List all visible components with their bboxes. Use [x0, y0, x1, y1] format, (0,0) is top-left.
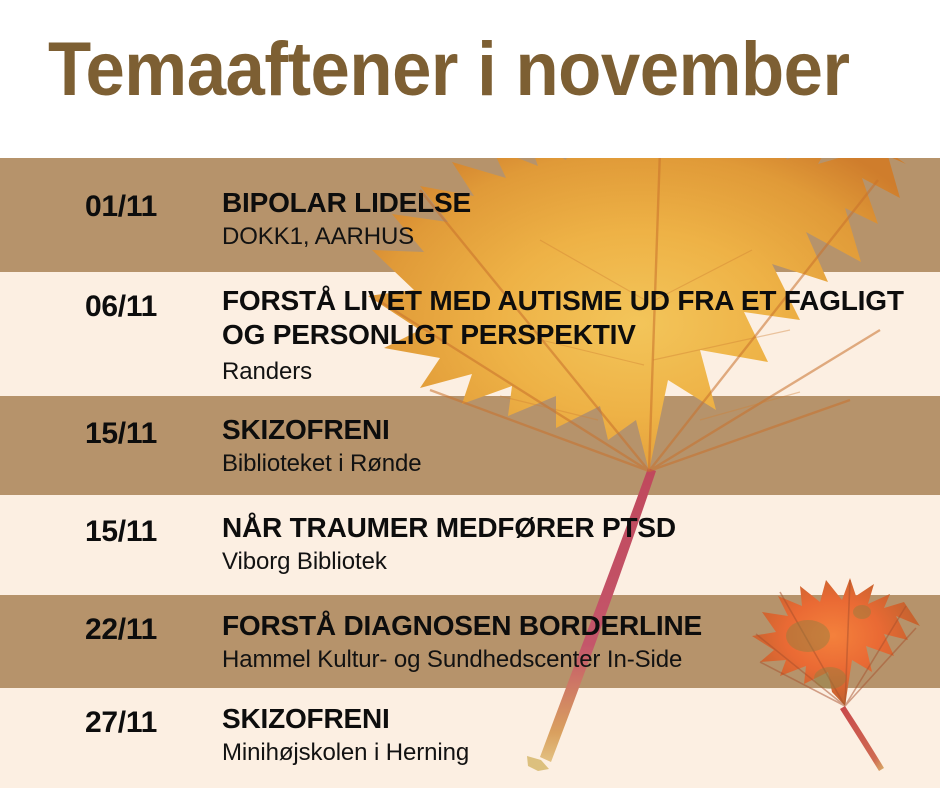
event-venue: DOKK1, AARHUS: [222, 221, 922, 252]
event-date: 15/11: [46, 417, 196, 451]
event-date: 15/11: [46, 515, 196, 549]
event-title: FORSTÅ LIVET MED AUTISME UD FRA ET FAGLI…: [222, 284, 922, 352]
event-date: 27/11: [46, 706, 196, 740]
list-item[interactable]: 27/11 SKIZOFRENI Minihøjskolen i Herning: [0, 688, 940, 788]
event-date: 06/11: [46, 290, 196, 324]
event-title: FORSTÅ DIAGNOSEN BORDERLINE: [222, 609, 922, 643]
list-item[interactable]: 15/11 SKIZOFRENI Biblioteket i Rønde: [0, 396, 940, 495]
event-body: FORSTÅ LIVET MED AUTISME UD FRA ET FAGLI…: [222, 284, 922, 387]
page-title: Temaaftener i november: [48, 29, 850, 111]
list-item[interactable]: 15/11 NÅR TRAUMER MEDFØRER PTSD Viborg B…: [0, 495, 940, 595]
event-title: SKIZOFRENI: [222, 702, 922, 736]
event-body: SKIZOFRENI Minihøjskolen i Herning: [222, 702, 922, 768]
event-body: SKIZOFRENI Biblioteket i Rønde: [222, 413, 922, 479]
event-body: FORSTÅ DIAGNOSEN BORDERLINE Hammel Kultu…: [222, 609, 922, 675]
list-item[interactable]: 01/11 BIPOLAR LIDELSE DOKK1, AARHUS: [0, 158, 940, 272]
event-title: NÅR TRAUMER MEDFØRER PTSD: [222, 511, 922, 545]
poster-header: Temaaftener i november: [0, 0, 940, 158]
event-venue: Viborg Bibliotek: [222, 546, 922, 577]
event-title: BIPOLAR LIDELSE: [222, 186, 922, 220]
event-title: SKIZOFRENI: [222, 413, 922, 447]
event-date: 01/11: [46, 190, 196, 224]
event-body: NÅR TRAUMER MEDFØRER PTSD Viborg Bibliot…: [222, 511, 922, 577]
list-item[interactable]: 06/11 FORSTÅ LIVET MED AUTISME UD FRA ET…: [0, 272, 940, 396]
event-venue: Hammel Kultur- og Sundhedscenter In-Side: [222, 644, 922, 675]
event-venue: Minihøjskolen i Herning: [222, 737, 922, 768]
event-body: BIPOLAR LIDELSE DOKK1, AARHUS: [222, 186, 922, 252]
event-venue: Biblioteket i Rønde: [222, 448, 922, 479]
event-poster: Temaaftener i november 01/11 BIPOLAR LID…: [0, 0, 940, 788]
list-item[interactable]: 22/11 FORSTÅ DIAGNOSEN BORDERLINE Hammel…: [0, 595, 940, 688]
event-date: 22/11: [46, 613, 196, 647]
event-venue: Randers: [222, 356, 922, 387]
